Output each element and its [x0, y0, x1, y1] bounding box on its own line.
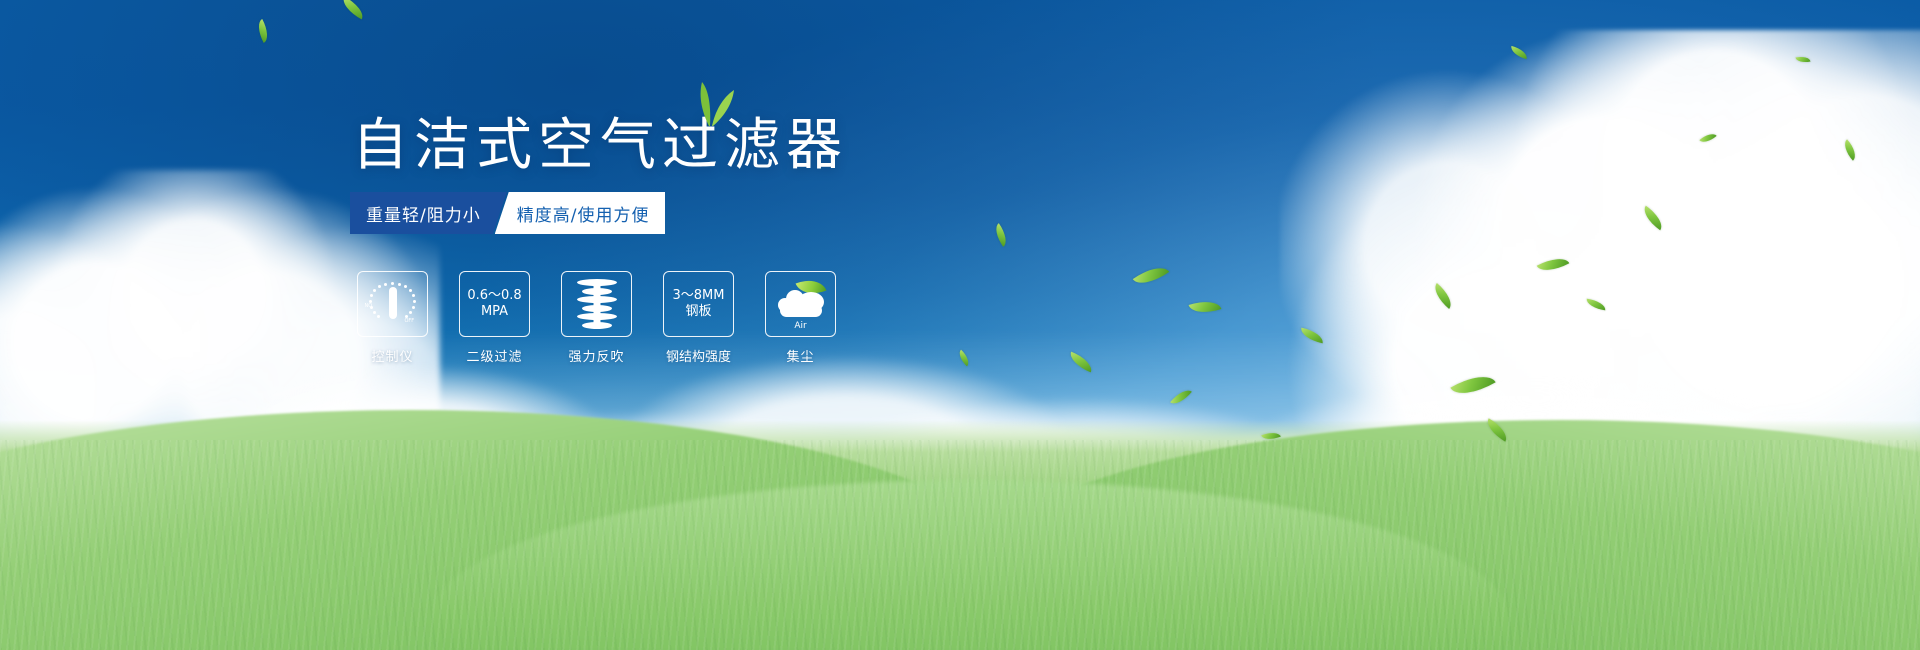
feature-item-blowback[interactable]: 强力反吹 — [561, 271, 632, 365]
dial-off-label: OFF — [405, 318, 415, 324]
pressure-value-line2: MPA — [481, 304, 508, 320]
dial-on-label: NO — [365, 303, 373, 309]
feature-caption-controller: 控制仪 — [371, 346, 413, 365]
feature-badges: 重量轻/阻力小 精度高/使用方便 — [350, 192, 665, 234]
page-title: 自洁式空气过滤器 — [352, 118, 848, 174]
feature-caption-two-stage-filter: 二级过滤 — [466, 346, 522, 365]
title-block: 自洁式空气过滤器 — [352, 118, 848, 174]
sprout-leaf-icon — [682, 80, 738, 126]
air-cloud-dust-icon: Air — [776, 280, 826, 328]
feature-item-controller[interactable]: NO OFF 控制仪 — [357, 271, 428, 365]
controller-dial-icon: NO OFF — [365, 278, 421, 330]
feature-item-two-stage-filter[interactable]: 0.6〜0.8 MPA 二级过滤 — [459, 271, 530, 365]
feature-caption-steel-strength: 钢结构强度 — [666, 346, 731, 365]
filter-stack-blowback-icon — [574, 279, 620, 329]
badge-precision-convenience[interactable]: 精度高/使用方便 — [495, 192, 666, 234]
feature-box-steel: 3〜8MM 钢板 — [663, 271, 734, 337]
pressure-value-line1: 0.6〜0.8 — [467, 288, 521, 304]
feature-caption-dust-collection: 集尘 — [786, 346, 814, 365]
banner-content: 自洁式空气过滤器 重量轻/阻力小 精度高/使用方便 — [0, 0, 1920, 650]
steel-value-line1: 3〜8MM — [673, 288, 725, 304]
feature-box-controller: NO OFF — [357, 271, 428, 337]
product-banner: 自洁式空气过滤器 重量轻/阻力小 精度高/使用方便 — [0, 0, 1920, 650]
badge-weight-resistance[interactable]: 重量轻/阻力小 — [350, 192, 507, 234]
feature-item-dust-collection[interactable]: Air 集尘 — [765, 271, 836, 365]
feature-box-pressure: 0.6〜0.8 MPA — [459, 271, 530, 337]
feature-icon-row: NO OFF 控制仪 0.6〜0.8 MPA 二级过滤 — [357, 271, 836, 365]
feature-box-blowback — [561, 271, 632, 337]
feature-caption-blowback: 强力反吹 — [568, 346, 624, 365]
feature-item-steel-strength[interactable]: 3〜8MM 钢板 钢结构强度 — [663, 271, 734, 365]
steel-value-line2: 钢板 — [685, 304, 711, 320]
air-label: Air — [776, 321, 826, 331]
feature-box-dust: Air — [765, 271, 836, 337]
